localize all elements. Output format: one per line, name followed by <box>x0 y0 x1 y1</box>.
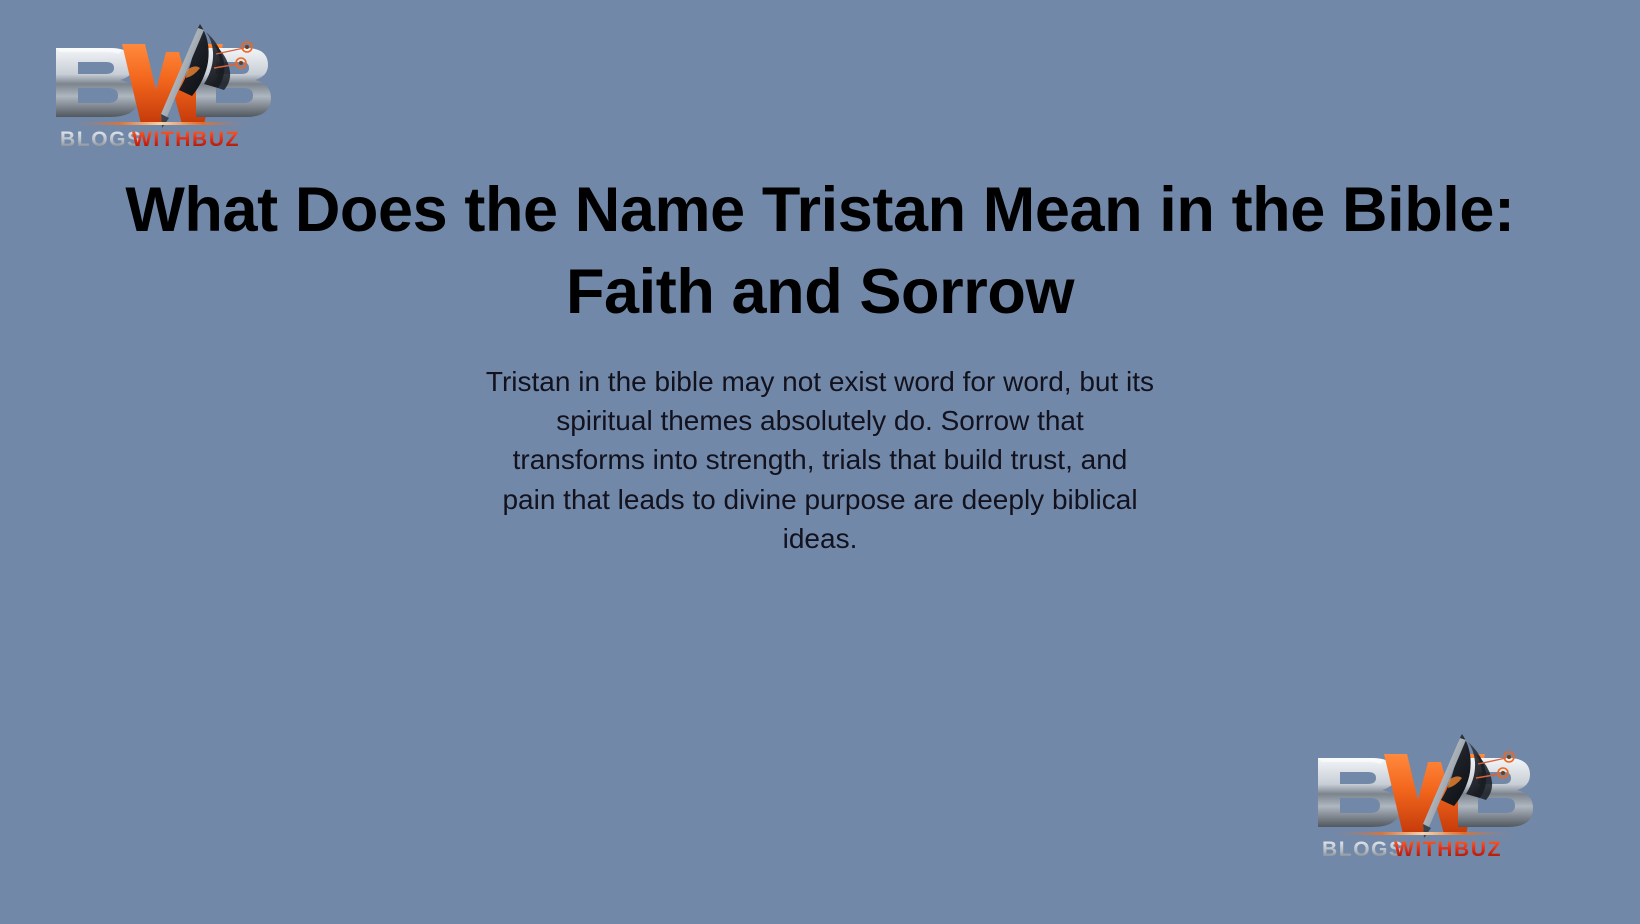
brand-logo-top-left[interactable]: BLOGS WITHBUZ <box>48 18 270 158</box>
subtitle-line: Tristan in the bible may not exist word … <box>440 362 1200 401</box>
subtitle-line: transforms into strength, trials that bu… <box>440 440 1200 479</box>
slide-canvas: BLOGS WITHBUZ What Does the Name Tristan… <box>0 0 1640 924</box>
page-title: What Does the Name Tristan Mean in the B… <box>0 170 1640 334</box>
logo-wordmark: BLOGS WITHBUZ <box>1322 838 1502 861</box>
bwb-logo-icon: BLOGS WITHBUZ <box>1310 728 1532 868</box>
logo-wordmark-primary: BLOGS <box>60 128 143 151</box>
logo-wordmark-primary: BLOGS <box>1322 838 1405 861</box>
bwb-logo-icon: BLOGS WITHBUZ <box>48 18 270 158</box>
page-title-line-1: What Does the Name Tristan Mean in the B… <box>125 175 1514 245</box>
subtitle-line: pain that leads to divine purpose are de… <box>440 480 1200 519</box>
page-title-line-2: Faith and Sorrow <box>566 257 1074 327</box>
logo-wordmark-accent: WITHBUZ <box>1394 838 1502 861</box>
brand-logo-bottom-right[interactable]: BLOGS WITHBUZ <box>1310 728 1532 868</box>
logo-wordmark-accent: WITHBUZ <box>132 128 240 151</box>
logo-wordmark: BLOGS WITHBUZ <box>60 128 240 151</box>
logo-glow-bar <box>66 122 256 125</box>
logo-glow-bar <box>1328 832 1518 835</box>
page-subtitle: Tristan in the bible may not exist word … <box>440 362 1200 558</box>
subtitle-line: spiritual themes absolutely do. Sorrow t… <box>440 401 1200 440</box>
subtitle-line: ideas. <box>440 519 1200 558</box>
